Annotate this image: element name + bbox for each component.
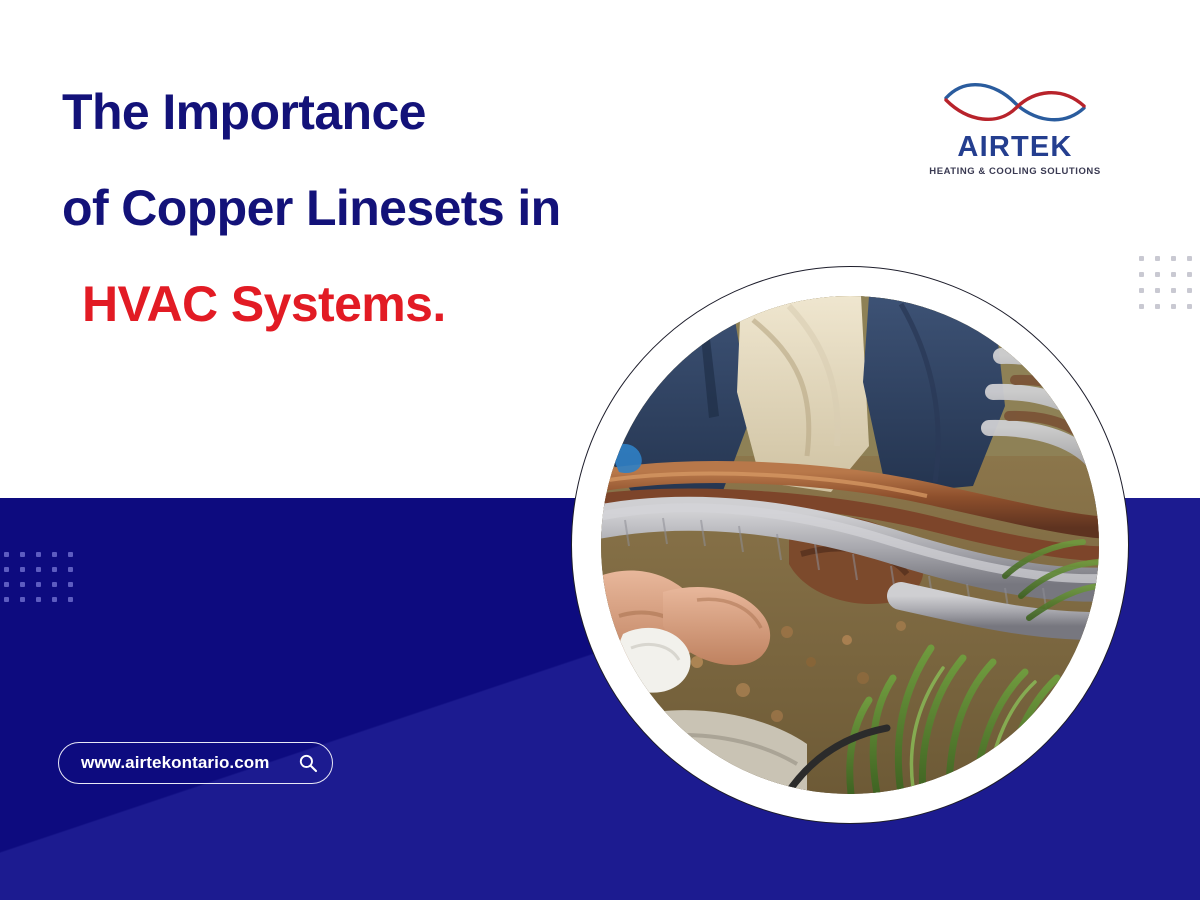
decor-dot	[52, 552, 57, 557]
decor-dot	[68, 567, 73, 572]
decor-dot	[1139, 304, 1144, 309]
decor-dot	[68, 582, 73, 587]
decor-dot	[1155, 256, 1160, 261]
decor-dot	[20, 552, 25, 557]
decor-dot	[1171, 272, 1176, 277]
decor-dot	[1155, 272, 1160, 277]
decor-dot	[1171, 256, 1176, 261]
decor-dot	[52, 582, 57, 587]
headline-line-2: of Copper Linesets in	[62, 160, 762, 256]
decor-dot	[68, 552, 73, 557]
decor-dot	[1187, 304, 1192, 309]
dot-grid-right	[1139, 256, 1195, 312]
decor-dot	[20, 567, 25, 572]
promo-graphic-canvas: The Importance of Copper Linesets in HVA…	[0, 0, 1200, 900]
decor-dot	[36, 597, 41, 602]
dot-grid-left	[0, 552, 84, 608]
decor-dot	[1155, 304, 1160, 309]
decor-dot	[1171, 304, 1176, 309]
decor-dot	[1139, 256, 1144, 261]
decor-dot	[4, 597, 9, 602]
decor-dot	[1171, 288, 1176, 293]
website-url-text: www.airtekontario.com	[81, 753, 270, 773]
decor-dot	[68, 597, 73, 602]
decor-dot	[20, 597, 25, 602]
decor-dot	[4, 552, 9, 557]
decor-dot	[36, 567, 41, 572]
decor-dot	[1187, 256, 1192, 261]
search-icon[interactable]	[298, 753, 318, 773]
decor-dot	[1187, 272, 1192, 277]
decor-dot	[20, 582, 25, 587]
decor-dot	[52, 567, 57, 572]
decor-dot	[1139, 288, 1144, 293]
decor-dot	[36, 582, 41, 587]
decor-dot	[52, 597, 57, 602]
hvac-technician-copper-lineset-photo	[601, 296, 1099, 794]
decor-dot	[1155, 288, 1160, 293]
decor-dot	[1187, 288, 1192, 293]
decor-dot	[36, 552, 41, 557]
website-url-pill[interactable]: www.airtekontario.com	[58, 742, 333, 784]
headline-line-1: The Importance	[62, 64, 762, 160]
wave-swoosh-icon	[940, 78, 1090, 130]
decor-dot	[4, 582, 9, 587]
decor-dot	[1139, 272, 1144, 277]
logo-wordmark: AIRTEK	[920, 132, 1110, 162]
logo-tagline: HEATING & COOLING SOLUTIONS	[920, 165, 1110, 179]
brand-logo: AIRTEK HEATING & COOLING SOLUTIONS	[920, 78, 1110, 179]
decor-dot	[4, 567, 9, 572]
